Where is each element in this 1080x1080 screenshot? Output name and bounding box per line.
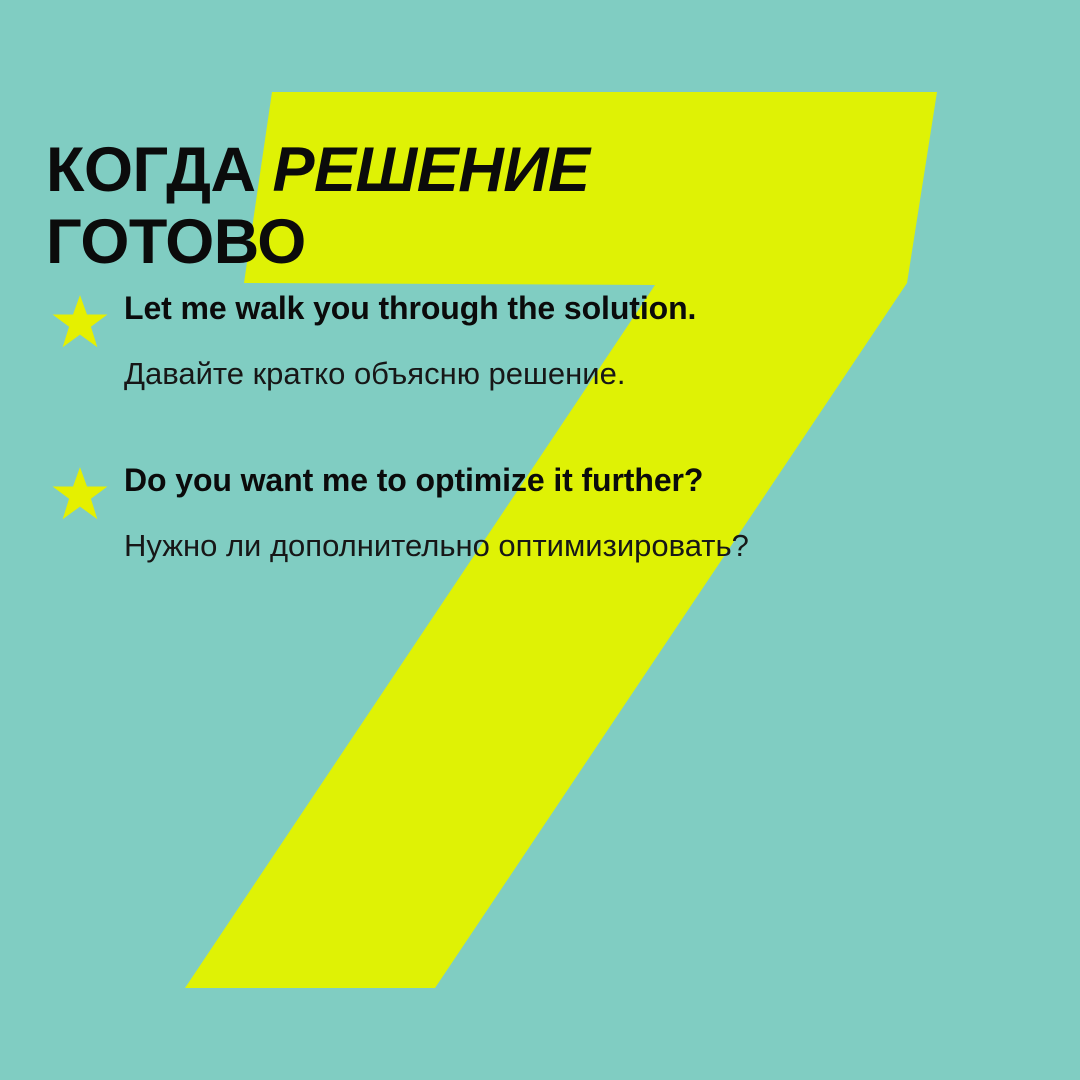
page-title-plain: КОГДА (46, 135, 272, 205)
star-icon (52, 294, 108, 350)
list-item-texts: Let me walk you through the solution. Да… (124, 288, 1046, 394)
slide-canvas: КОГДА РЕШЕНИЕГОТОВО Let me walk you thro… (0, 0, 1080, 1080)
star-icon (52, 466, 108, 522)
list-item-phrase-en: Let me walk you through the solution. (124, 288, 1046, 328)
list-item-phrase-en: Do you want me to optimize it further? (124, 460, 1046, 500)
list-item-phrase-ru: Давайте кратко объясню решение. (124, 354, 1046, 394)
page-title-accent: РЕШЕНИЕ (272, 135, 589, 205)
list-item: Let me walk you through the solution. Да… (46, 288, 1046, 394)
list-item-phrase-ru: Нужно ли дополнительно оптимизировать? (124, 526, 1046, 566)
bullet-list: Let me walk you through the solution. Да… (46, 288, 1046, 566)
list-item: Do you want me to optimize it further? Н… (46, 460, 1046, 566)
list-item-texts: Do you want me to optimize it further? Н… (124, 460, 1046, 566)
content-layer: КОГДА РЕШЕНИЕГОТОВО Let me walk you thro… (0, 0, 1080, 1080)
page-title: КОГДА РЕШЕНИЕГОТОВО (46, 134, 1026, 278)
page-title-line2: ГОТОВО (46, 207, 306, 277)
